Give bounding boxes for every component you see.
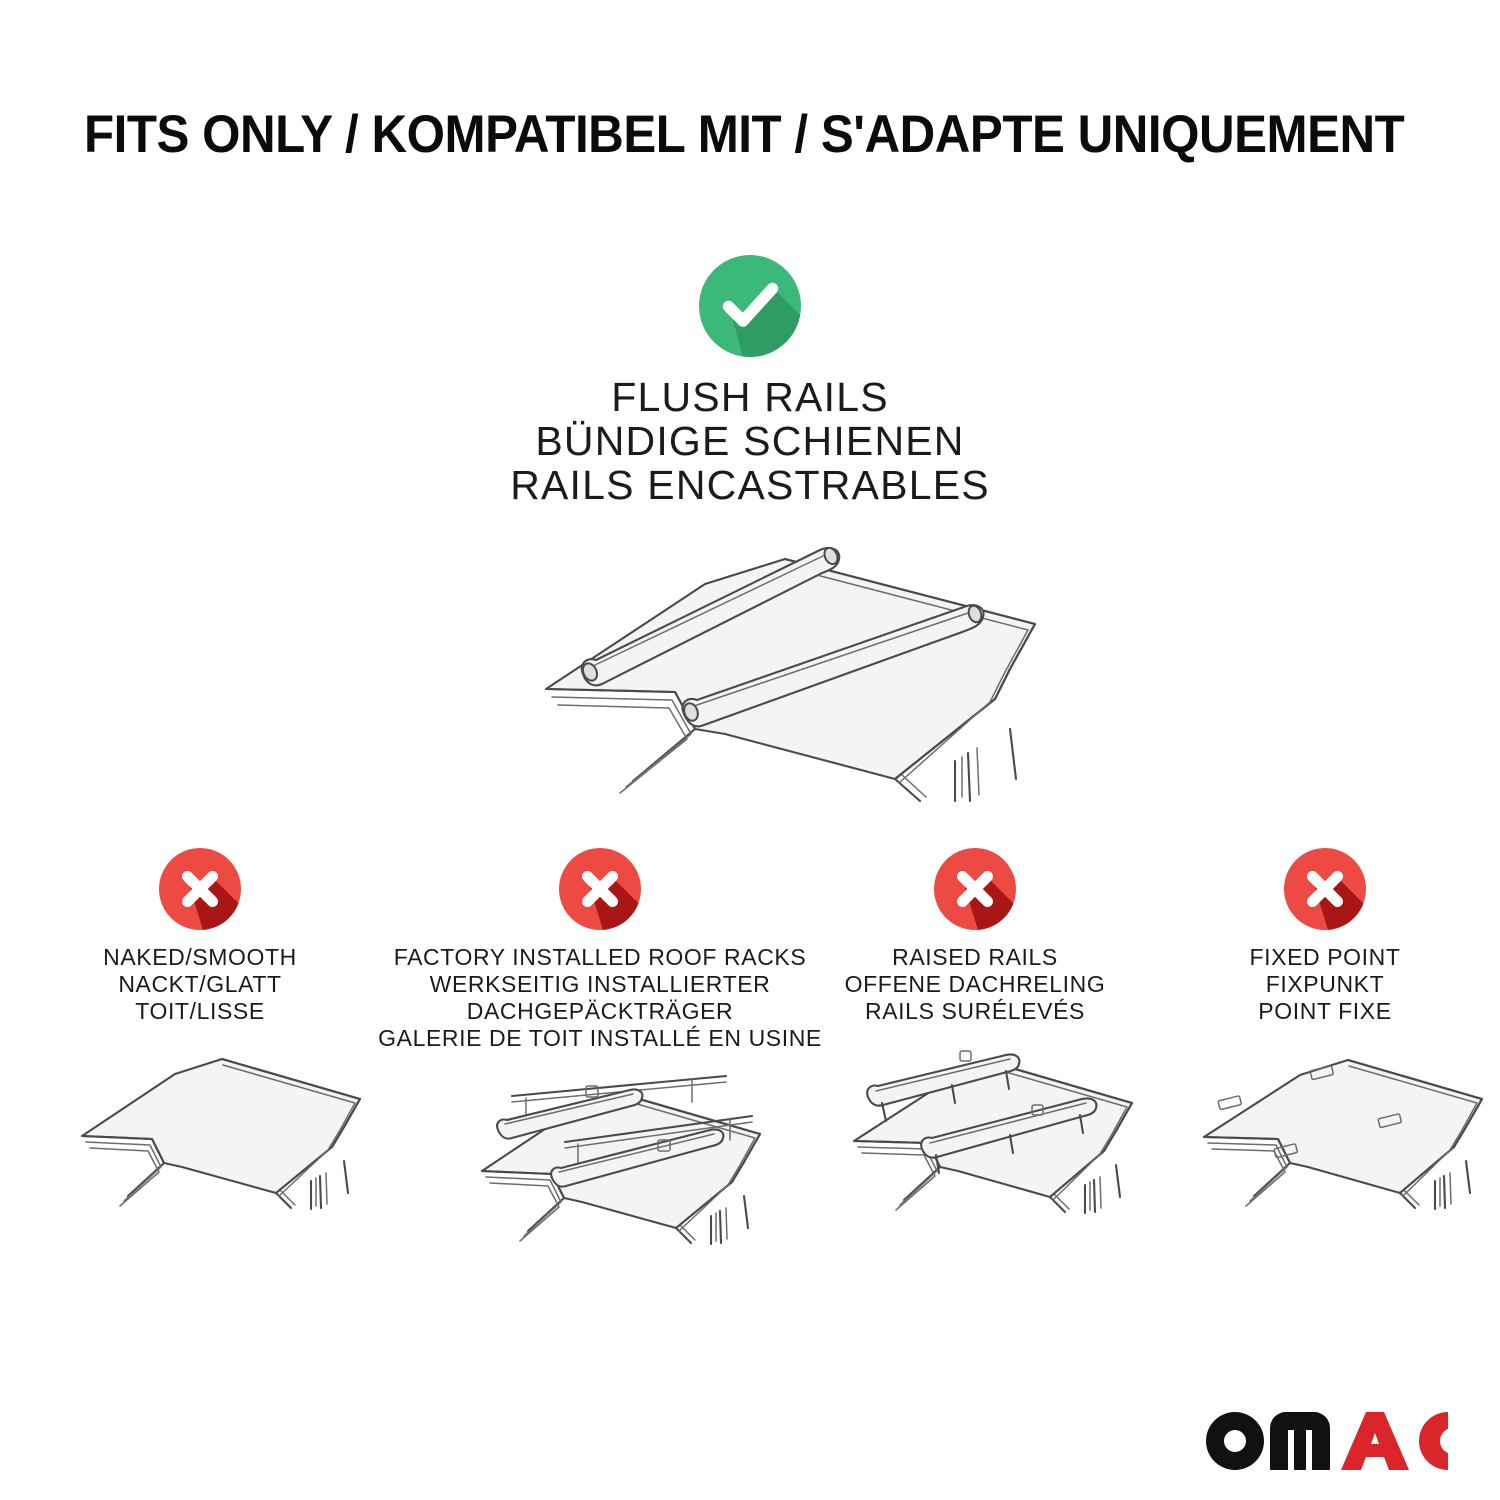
option-label-line-en: RAISED RAILS <box>845 944 1106 971</box>
option-factory-roof-racks: FACTORY INSTALLED ROOF RACKS WERKSEITIG … <box>400 848 800 1283</box>
option-label-line-en: FACTORY INSTALLED ROOF RACKS <box>378 944 822 971</box>
flush-rails-roof-illustration <box>450 529 1050 819</box>
option-fixed-point: FIXED POINT FIXPUNKT POINT FIXE <box>1150 848 1500 1256</box>
option-factory-roof-racks-label: FACTORY INSTALLED ROOF RACKS WERKSEITIG … <box>378 944 822 1052</box>
option-label-line-en: NAKED/SMOOTH <box>103 944 297 971</box>
factory-roof-rack-illustration <box>430 1068 770 1283</box>
option-naked-smooth-label: NAKED/SMOOTH NACKT/GLATT TOIT/LISSE <box>103 944 297 1025</box>
option-raised-rails: RAISED RAILS OFFENE DACHRELING RAILS SUR… <box>800 848 1150 1256</box>
compatible-label-line-fr: RAILS ENCASTRABLES <box>510 463 990 507</box>
fixed-point-roof-illustration <box>1160 1041 1490 1256</box>
compatible-section: FLUSH RAILS BÜNDIGE SCHIENEN RAILS ENCAS… <box>0 255 1500 819</box>
naked-roof-illustration <box>30 1041 370 1256</box>
omac-logo <box>1202 1408 1452 1474</box>
option-fixed-point-label: FIXED POINT FIXPUNKT POINT FIXE <box>1249 944 1400 1025</box>
option-label-line-de-2: DACHGEPÄCKTRÄGER <box>378 998 822 1025</box>
option-label-line-de: NACKT/GLATT <box>103 971 297 998</box>
compatible-label-line-de: BÜNDIGE SCHIENEN <box>510 419 990 463</box>
option-label-line-fr: POINT FIXE <box>1249 998 1400 1025</box>
compatible-label: FLUSH RAILS BÜNDIGE SCHIENEN RAILS ENCAS… <box>510 375 990 507</box>
check-circle-icon <box>699 255 801 357</box>
option-label-line-fr: GALERIE DE TOIT INSTALLÉ EN USINE <box>378 1025 822 1052</box>
x-circle-icon <box>159 848 241 930</box>
compatible-label-line-en: FLUSH RAILS <box>510 375 990 419</box>
option-label-line-fr: RAILS SURÉLEVÉS <box>845 998 1106 1025</box>
incompatible-options-row: NAKED/SMOOTH NACKT/GLATT TOIT/LISSE <box>0 848 1500 1283</box>
x-circle-icon <box>559 848 641 930</box>
option-label-line-de: OFFENE DACHRELING <box>845 971 1106 998</box>
option-label-line-fr: TOIT/LISSE <box>103 998 297 1025</box>
raised-rails-roof-illustration <box>810 1041 1140 1256</box>
page-title: FITS ONLY / KOMPATIBEL MIT / S'ADAPTE UN… <box>84 104 1330 166</box>
option-label-line-en: FIXED POINT <box>1249 944 1400 971</box>
x-circle-icon <box>1284 848 1366 930</box>
x-circle-icon <box>934 848 1016 930</box>
option-label-line-de-1: WERKSEITIG INSTALLIERTER <box>378 971 822 998</box>
option-label-line-de: FIXPUNKT <box>1249 971 1400 998</box>
option-naked-smooth: NAKED/SMOOTH NACKT/GLATT TOIT/LISSE <box>0 848 400 1256</box>
option-raised-rails-label: RAISED RAILS OFFENE DACHRELING RAILS SUR… <box>845 944 1106 1025</box>
